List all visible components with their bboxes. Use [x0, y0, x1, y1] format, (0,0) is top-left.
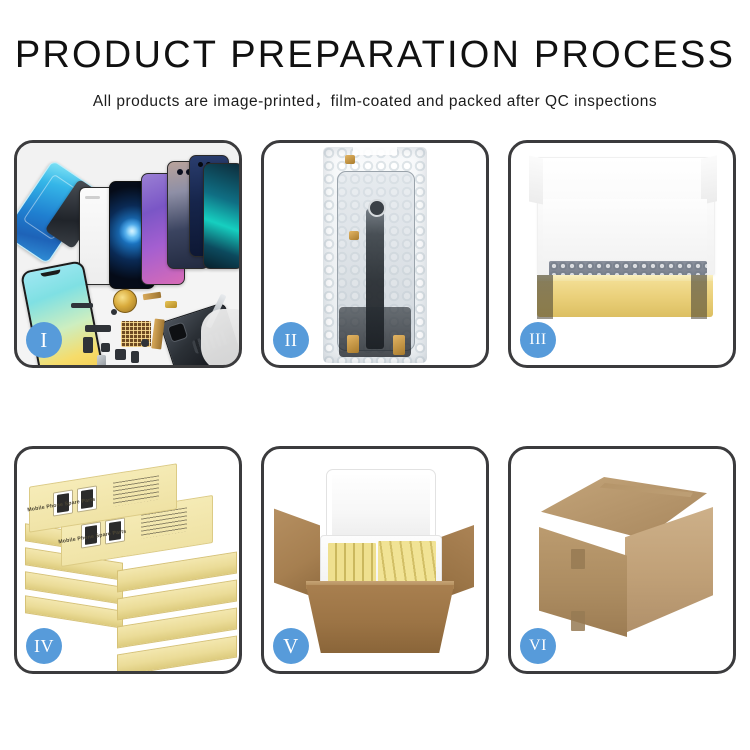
page-subtitle: All products are image-printed，film-coat…	[0, 89, 750, 111]
part-chip-icon	[101, 343, 110, 352]
part-strip-icon	[71, 303, 93, 308]
part-clip-icon	[83, 337, 93, 353]
foam-sheet-icon	[543, 199, 707, 261]
phone-screen-teal-icon	[203, 163, 239, 269]
lid-flap-left	[529, 156, 543, 205]
step-badge-5: V	[273, 628, 309, 664]
page-header: PRODUCT PREPARATION PROCESS All products…	[0, 0, 750, 111]
gold-contact-icon	[165, 301, 177, 308]
process-step-panel-4[interactable]: Mobile Phone Spare Parts Mobile Phone Sp…	[14, 446, 242, 674]
step-badge-4: IV	[26, 628, 62, 664]
process-step-panel-1[interactable]: I	[14, 140, 242, 368]
process-step-panel-3[interactable]: III	[508, 140, 736, 368]
top-tape-icon	[353, 143, 397, 155]
connector-icon	[368, 199, 386, 217]
gold-tab-left-icon	[347, 335, 359, 353]
hand-icon	[201, 309, 239, 365]
page-title: PRODUCT PREPARATION PROCESS	[0, 36, 750, 76]
kraft-box-front-icon	[537, 281, 713, 317]
part-camera-icon	[141, 339, 149, 347]
foam-lid-icon	[326, 469, 436, 543]
step-badge-6: VI	[520, 628, 556, 664]
process-step-grid: I II	[14, 140, 736, 674]
part-bracket-icon	[85, 325, 111, 332]
tape-tab-top-icon	[345, 155, 355, 164]
lid-flap-right	[701, 155, 717, 204]
carton-tape-lower-icon	[571, 611, 585, 631]
step-badge-3: III	[520, 322, 556, 358]
carton-body-icon	[306, 585, 454, 653]
bubble-wrap-icon	[323, 147, 427, 363]
speaker-module-icon	[113, 289, 137, 313]
flex-cable-icon	[143, 292, 162, 300]
kraft-box-side-right	[691, 275, 707, 319]
carton-tape-upper-icon	[571, 549, 585, 569]
process-step-panel-6[interactable]: VI	[508, 446, 736, 674]
flex-cable-long-icon	[151, 319, 165, 350]
process-step-panel-2[interactable]: II	[261, 140, 489, 368]
tape-tab-mid-icon	[349, 231, 359, 240]
step-badge-2: II	[273, 322, 309, 358]
kraft-box-side-left	[537, 275, 553, 319]
gold-tab-right-icon	[393, 335, 405, 355]
part-sim-tray-icon	[97, 355, 106, 365]
part-screw-icon	[111, 309, 117, 315]
part-connector-icon	[131, 351, 139, 363]
process-step-panel-5[interactable]: V	[261, 446, 489, 674]
part-button-icon	[115, 349, 126, 360]
step-badge-1: I	[26, 322, 62, 358]
